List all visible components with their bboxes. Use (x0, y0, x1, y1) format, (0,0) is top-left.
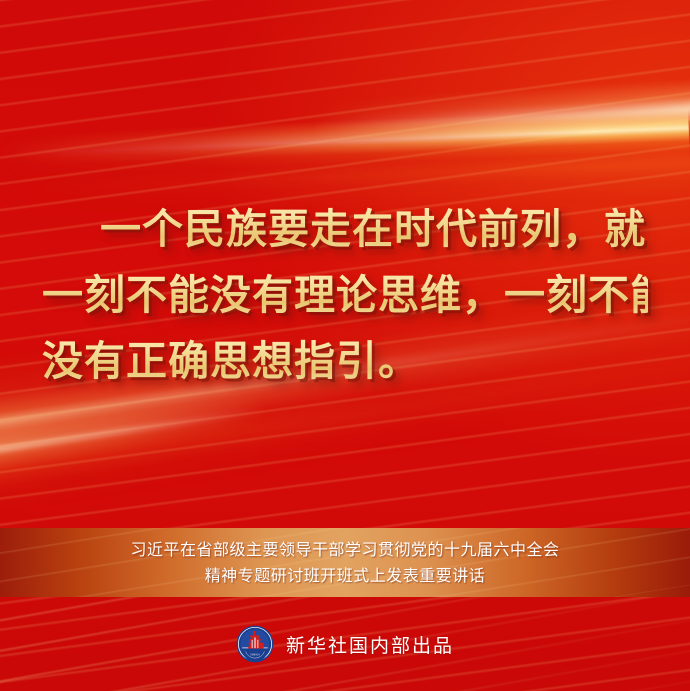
quote-line-2: 一刻不能没有理论思维，一刻不能 (42, 262, 648, 328)
footer-bar: XINHUA 新华社国内部出品 (0, 597, 690, 691)
quote-block: 一个民族要走在时代前列，就 一刻不能没有理论思维，一刻不能 没有正确思想指引。 (0, 196, 690, 394)
xinhua-news-agency-logo: XINHUA (236, 625, 274, 663)
svg-text:XINHUA: XINHUA (250, 652, 260, 656)
footer-label: 新华社国内部出品 (286, 631, 454, 658)
caption-band: 习近平在省部级主要领导干部学习贯彻党的十九届六中全会 精神专题研讨班开班式上发表… (0, 528, 690, 597)
caption-line-2: 精神专题研讨班开班式上发表重要讲话 (205, 563, 486, 589)
quote-line-1: 一个民族要走在时代前列，就 (42, 196, 648, 262)
poster-canvas: 一个民族要走在时代前列，就 一刻不能没有理论思维，一刻不能 没有正确思想指引。 … (0, 0, 690, 691)
caption-line-1: 习近平在省部级主要领导干部学习贯彻党的十九届六中全会 (130, 537, 559, 563)
quote-line-3: 没有正确思想指引。 (42, 328, 648, 394)
